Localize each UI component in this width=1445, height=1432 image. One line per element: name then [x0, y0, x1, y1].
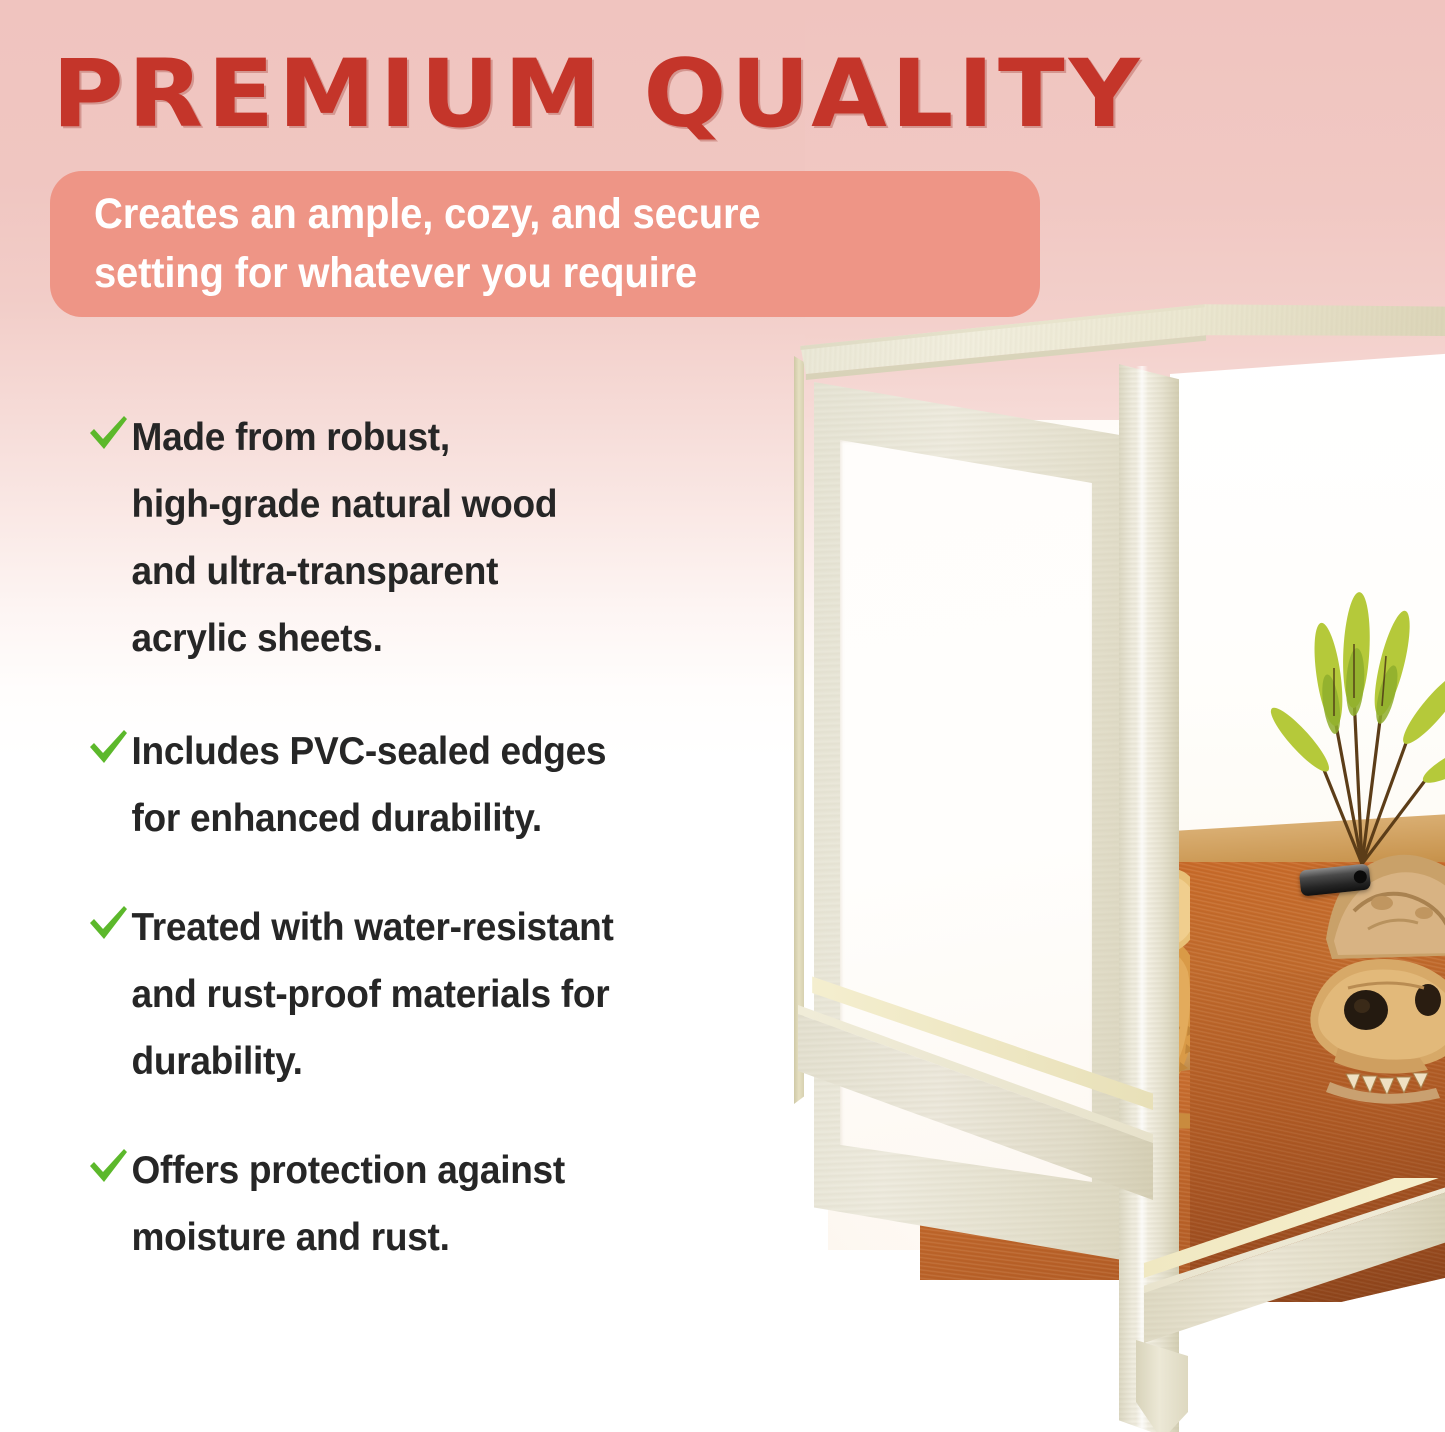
- list-item-line: durability.: [132, 1028, 750, 1095]
- list-item-text: Offers protection against moisture and r…: [84, 1137, 749, 1271]
- product-photo: [770, 300, 1445, 1432]
- list-item-line: and rust-proof materials for: [132, 961, 750, 1028]
- top-panel-face: [770, 300, 1445, 500]
- list-item: Offers protection against moisture and r…: [84, 1137, 784, 1271]
- base-rail-left: [798, 912, 1153, 1212]
- list-item-line: high-grade natural wood: [132, 471, 750, 538]
- page-title: PREMIUM QUALITY: [52, 47, 1445, 143]
- base-rail-left-face: [798, 912, 1153, 1212]
- animal-skull-decoration-icon: [1292, 912, 1445, 1112]
- list-item-line: Treated with water-resistant: [132, 894, 750, 961]
- list-item-line: Includes PVC-sealed edges: [132, 718, 750, 785]
- feature-list: Made from robust, high-grade natural woo…: [84, 404, 784, 1271]
- subtitle-banner: Creates an ample, cozy, and secure setti…: [50, 171, 1040, 317]
- subtitle-text: Creates an ample, cozy, and secure setti…: [94, 185, 940, 303]
- list-item-text: Made from robust, high-grade natural woo…: [84, 404, 749, 672]
- subtitle-line-1: Creates an ample, cozy, and secure: [94, 185, 940, 244]
- list-item-text: Treated with water-resistant and rust-pr…: [84, 894, 749, 1095]
- list-item-line: and ultra-transparent: [132, 538, 750, 605]
- subtitle-line-2: setting for whatever you require: [94, 244, 940, 303]
- list-item-text: Includes PVC-sealed edges for enhanced d…: [84, 718, 749, 852]
- top-wood-panel: [770, 300, 1445, 500]
- list-item-line: acrylic sheets.: [132, 605, 750, 672]
- list-item: Made from robust, high-grade natural woo…: [84, 404, 784, 672]
- base-rail-right: [1144, 1178, 1445, 1428]
- list-item: Includes PVC-sealed edges for enhanced d…: [84, 718, 784, 852]
- list-item: Treated with water-resistant and rust-pr…: [84, 894, 784, 1095]
- list-item-line: Made from robust,: [132, 404, 750, 471]
- list-item-line: Offers protection against: [132, 1137, 750, 1204]
- list-item-line: for enhanced durability.: [132, 785, 750, 852]
- promo-banner-page: PREMIUM QUALITY Creates an ample, cozy, …: [0, 0, 1445, 1432]
- list-item-line: moisture and rust.: [132, 1204, 750, 1271]
